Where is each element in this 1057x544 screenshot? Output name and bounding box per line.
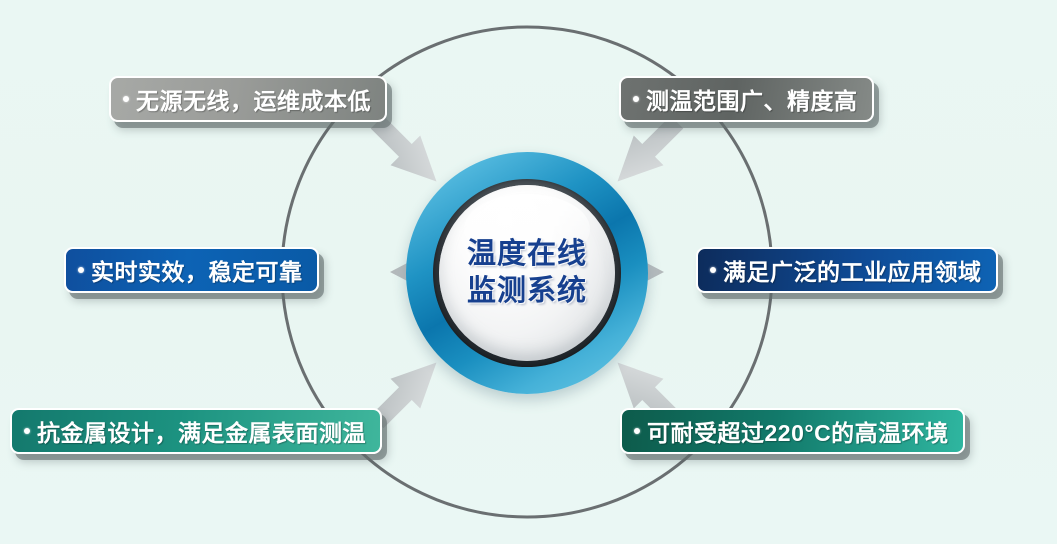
bullet-dot-icon xyxy=(123,96,129,102)
feature-pill-middle-right[interactable]: 满足广泛的工业应用领域 xyxy=(696,247,998,293)
center-hub[interactable]: 温度在线 监测系统 xyxy=(406,152,648,394)
diagram-canvas: 温度在线 监测系统 无源无线，运维成本低 测温范围广、精度高 实时实效，稳定可靠… xyxy=(0,0,1057,544)
feature-label: 抗金属设计，满足金属表面测温 xyxy=(37,414,366,448)
bullet-dot-icon xyxy=(78,267,84,273)
bullet-dot-icon xyxy=(24,428,30,434)
feature-label: 可耐受超过220°C的高温环境 xyxy=(647,414,949,448)
feature-label: 实时实效，稳定可靠 xyxy=(91,253,303,287)
feature-label: 无源无线，运维成本低 xyxy=(136,82,371,116)
center-title-line-2: 监测系统 xyxy=(467,273,587,310)
feature-pill-top-right[interactable]: 测温范围广、精度高 xyxy=(619,76,874,122)
center-hub-face: 温度在线 监测系统 xyxy=(439,185,615,361)
feature-label: 满足广泛的工业应用领域 xyxy=(723,253,982,287)
feature-pill-bottom-right[interactable]: 可耐受超过220°C的高温环境 xyxy=(620,408,965,454)
feature-pill-top-left[interactable]: 无源无线，运维成本低 xyxy=(109,76,387,122)
bullet-dot-icon xyxy=(710,267,716,273)
feature-pill-middle-left[interactable]: 实时实效，稳定可靠 xyxy=(64,247,319,293)
bullet-dot-icon xyxy=(633,96,639,102)
feature-label: 测温范围广、精度高 xyxy=(646,82,858,116)
feature-pill-bottom-left[interactable]: 抗金属设计，满足金属表面测温 xyxy=(10,408,382,454)
center-hub-inner-ring: 温度在线 监测系统 xyxy=(433,179,621,367)
center-title-line-1: 温度在线 xyxy=(467,236,587,273)
bullet-dot-icon xyxy=(634,428,640,434)
